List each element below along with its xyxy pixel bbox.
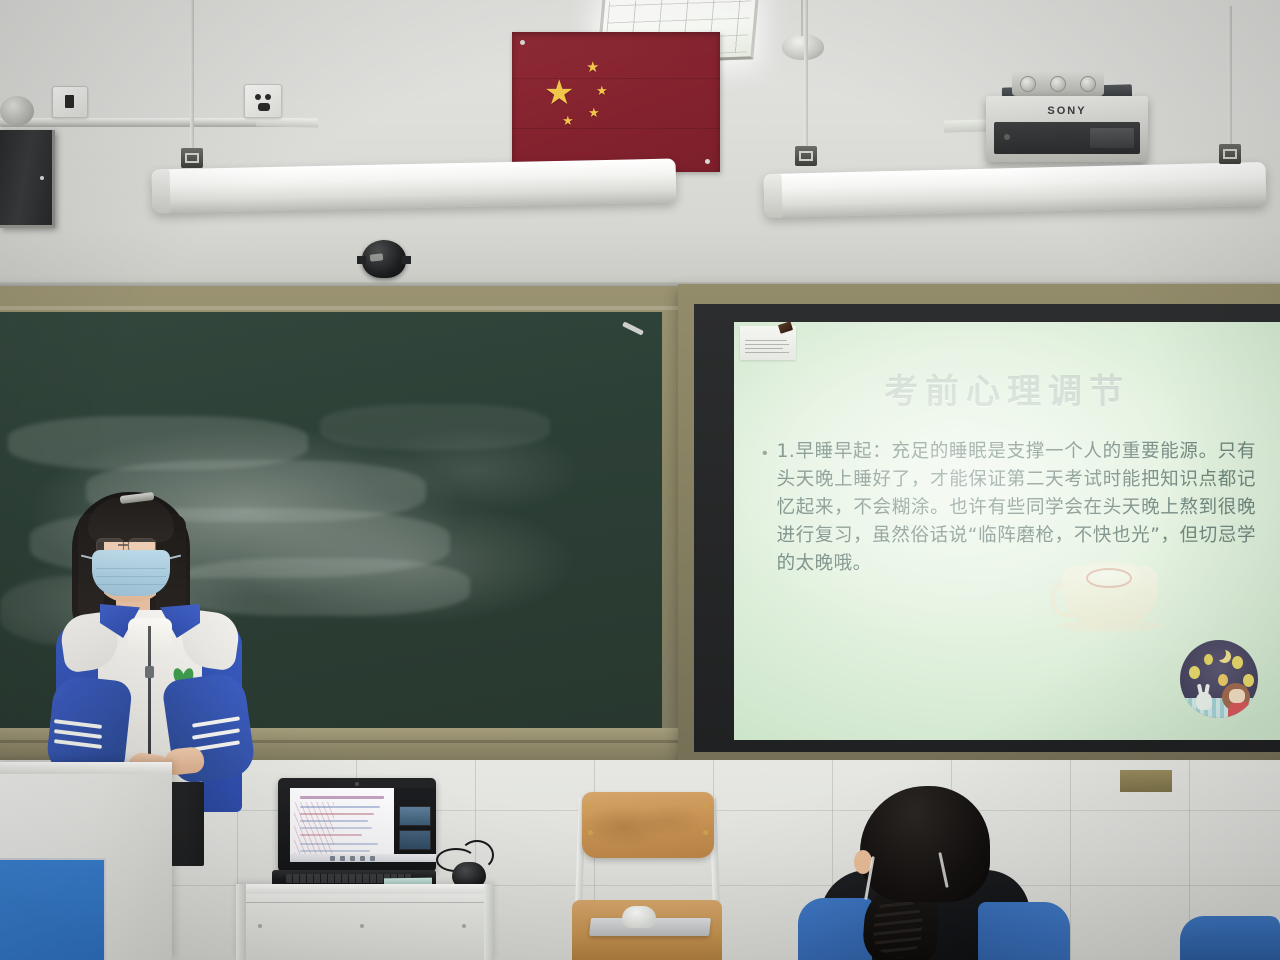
screen-bezel: 考前心理调节 • 1.早睡早起：充足的睡眠是支撑一个人的重要能源。只有头天晚上睡… bbox=[694, 304, 1280, 752]
paper-note-clipped-to-screen bbox=[740, 326, 796, 360]
speaker-screw bbox=[40, 176, 44, 180]
wooden-chair-back[interactable] bbox=[582, 792, 714, 858]
flag-star-4: ★ bbox=[562, 114, 574, 127]
video-conference-panel[interactable] bbox=[394, 788, 436, 862]
video-thumbnail[interactable] bbox=[399, 830, 431, 850]
podium-top-edge bbox=[0, 762, 172, 774]
light-clamp-1 bbox=[181, 148, 203, 168]
laptop-screen[interactable] bbox=[290, 788, 436, 862]
balloon-icon bbox=[1204, 654, 1213, 665]
face-mask bbox=[92, 550, 170, 596]
bunny-character bbox=[1196, 692, 1212, 710]
laptop-lid bbox=[278, 778, 436, 872]
equipment-desk bbox=[236, 884, 494, 960]
projection-screen-frame: 考前心理调节 • 1.早睡早起：充足的睡眠是支撑一个人的重要能源。只有头天晚上睡… bbox=[678, 284, 1280, 770]
teacher-podium[interactable] bbox=[0, 762, 172, 960]
student-hair bbox=[860, 786, 990, 902]
flag-star-large: ★ bbox=[544, 76, 574, 110]
laptop-slide-area bbox=[290, 788, 394, 862]
wall-knob bbox=[0, 96, 34, 126]
podium-blue-panel bbox=[0, 858, 106, 960]
conduit-rail-segment bbox=[256, 117, 318, 127]
slide-body-text: 1.早睡早起：充足的睡眠是支撑一个人的重要能源。只有头天晚上睡好了，才能保证第二… bbox=[777, 438, 1256, 579]
note-clip bbox=[778, 322, 793, 334]
flag-star-2: ★ bbox=[596, 84, 608, 97]
chinese-national-flag: ★ ★ ★ ★ ★ bbox=[512, 32, 720, 172]
desk-leg-left bbox=[236, 884, 246, 960]
wood-grain bbox=[582, 792, 714, 858]
ceiling-projector: SONY bbox=[986, 96, 1148, 162]
projector-lens-housing bbox=[994, 122, 1140, 154]
projector-port-panel bbox=[1090, 128, 1134, 148]
light-drop-rod-1 bbox=[190, 0, 194, 152]
white-mouse-on-chair[interactable] bbox=[622, 906, 656, 928]
student-uniform-left bbox=[798, 898, 872, 960]
balloon-icon bbox=[1232, 656, 1243, 669]
wall-outlet-right[interactable] bbox=[244, 84, 282, 118]
laptop-slide-heading bbox=[300, 796, 384, 799]
laptop-webcam-icon bbox=[355, 782, 359, 786]
classroom-photo: ★ ★ ★ ★ ★ SONY bbox=[0, 0, 1280, 960]
projector-lens bbox=[1004, 134, 1010, 140]
presentation-laptop[interactable] bbox=[272, 778, 436, 890]
desk-leg-right bbox=[484, 884, 494, 960]
slide-body: • 1.早睡早起：充足的睡眠是支撑一个人的重要能源。只有头天晚上睡好了，才能保证… bbox=[762, 438, 1256, 579]
light-clamp-3 bbox=[1219, 144, 1241, 164]
desk-drawer[interactable] bbox=[242, 902, 486, 933]
slide-bullet-marker: • bbox=[762, 446, 768, 462]
projected-slide: 考前心理调节 • 1.早睡早起：充足的睡眠是支撑一个人的重要能源。只有头天晚上睡… bbox=[734, 322, 1280, 740]
wall-speaker bbox=[0, 130, 55, 228]
video-thumbnail[interactable] bbox=[399, 806, 431, 826]
slide-title: 考前心理调节 bbox=[734, 364, 1280, 413]
tube-end-cap bbox=[152, 169, 171, 213]
dome-ceiling-lamp bbox=[782, 34, 824, 60]
night-scene-illustration bbox=[1180, 640, 1258, 718]
student-back-of-head bbox=[838, 786, 1138, 960]
light-drop-rod-2 bbox=[804, 0, 808, 148]
light-drop-rod-3 bbox=[1228, 6, 1232, 148]
desk-edge bbox=[236, 884, 494, 894]
balloon-icon bbox=[1218, 674, 1228, 686]
coffee-cup-decoration bbox=[1052, 558, 1178, 638]
student-uniform-right bbox=[978, 902, 1070, 960]
girl-character-face bbox=[1229, 689, 1245, 703]
student-partial-right bbox=[1180, 916, 1280, 960]
flag-star-1: ★ bbox=[586, 60, 599, 75]
ceiling-dome-camera bbox=[362, 240, 406, 278]
wall-outlet-left[interactable] bbox=[52, 86, 88, 118]
tube-end-cap bbox=[764, 174, 783, 218]
girl-character-dress bbox=[1228, 701, 1252, 718]
projector-adjusters bbox=[1012, 72, 1104, 96]
chalk-piece[interactable] bbox=[622, 321, 644, 335]
glasses-bridge bbox=[118, 544, 128, 546]
projector-brand-label: SONY bbox=[986, 105, 1148, 117]
teacher-fringe bbox=[88, 498, 174, 542]
laptop-taskbar[interactable] bbox=[290, 854, 436, 862]
zipper-pull bbox=[145, 666, 154, 678]
balloon-icon bbox=[1189, 666, 1200, 679]
crescent-moon-icon bbox=[1213, 647, 1226, 660]
flag-star-3: ★ bbox=[588, 106, 600, 119]
light-clamp-2 bbox=[795, 146, 817, 166]
